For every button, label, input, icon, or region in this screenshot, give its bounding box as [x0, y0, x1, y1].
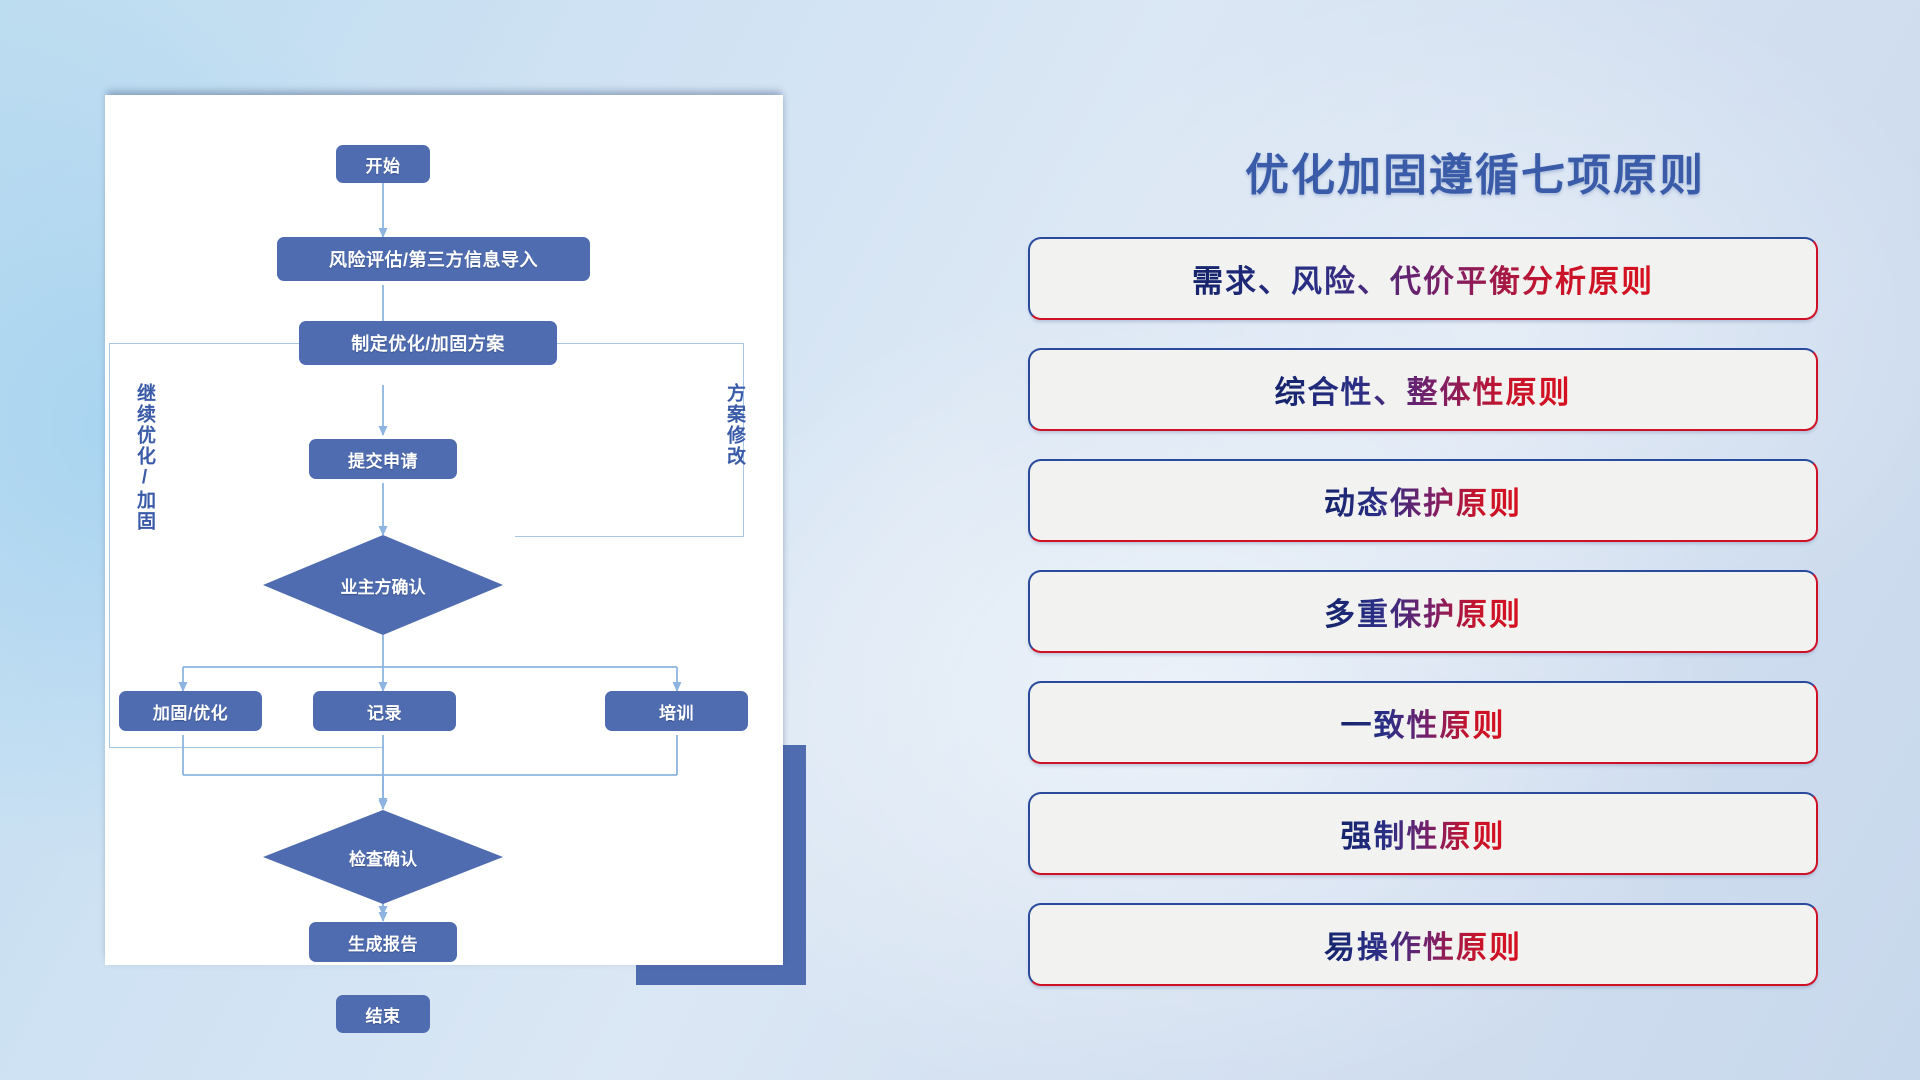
node-owner-confirm[interactable]: 业主方确认 [263, 535, 503, 635]
principle-item-5[interactable]: 一致性原则 [1028, 681, 1818, 764]
node-submit-application[interactable]: 提交申请 [309, 439, 457, 479]
node-submit-application-label: 提交申请 [348, 447, 418, 472]
principle-item-2-label: 综合性、整体性原则 [1275, 367, 1572, 412]
node-record-label: 记录 [367, 699, 402, 724]
principle-item-4-label: 多重保护原则 [1324, 589, 1522, 634]
node-record[interactable]: 记录 [313, 691, 456, 731]
slide-canvas: 开始 风险评估/第三方信息导入 制定优化/加固方案 提交申请 业主方确认 加固/… [0, 0, 1920, 1080]
node-end-label: 结束 [366, 1002, 401, 1027]
principle-item-1-label: 需求、风险、代价平衡分析原则 [1192, 256, 1654, 301]
principle-item-7-label: 易操作性原则 [1324, 922, 1522, 967]
node-generate-report-label: 生成报告 [348, 930, 418, 955]
principle-item-6-label: 强制性原则 [1341, 811, 1506, 856]
node-risk-assessment[interactable]: 风险评估/第三方信息导入 [277, 237, 590, 281]
node-reinforce-optimize-label: 加固/优化 [153, 699, 228, 724]
node-training[interactable]: 培训 [605, 691, 748, 731]
principle-item-5-label: 一致性原则 [1341, 700, 1506, 745]
principle-item-1[interactable]: 需求、风险、代价平衡分析原则 [1028, 237, 1818, 320]
edge-label-left-loop: 继续优化/加固 [135, 383, 154, 532]
flowchart-diagram: 开始 风险评估/第三方信息导入 制定优化/加固方案 提交申请 业主方确认 加固/… [105, 95, 783, 965]
node-start[interactable]: 开始 [336, 145, 430, 183]
edge-label-right-loop: 方案修改 [725, 383, 744, 467]
node-owner-confirm-label: 业主方确认 [263, 535, 503, 635]
node-end[interactable]: 结束 [336, 995, 430, 1033]
node-plan-label: 制定优化/加固方案 [351, 330, 505, 356]
principle-item-4[interactable]: 多重保护原则 [1028, 570, 1818, 653]
principle-item-3[interactable]: 动态保护原则 [1028, 459, 1818, 542]
node-generate-report[interactable]: 生成报告 [309, 922, 457, 962]
principle-item-6[interactable]: 强制性原则 [1028, 792, 1818, 875]
principle-item-2[interactable]: 综合性、整体性原则 [1028, 348, 1818, 431]
node-check-confirm-label: 检查确认 [263, 810, 503, 904]
node-training-label: 培训 [659, 699, 694, 724]
node-risk-assessment-label: 风险评估/第三方信息导入 [329, 246, 538, 272]
node-plan[interactable]: 制定优化/加固方案 [299, 321, 557, 365]
node-start-label: 开始 [366, 152, 401, 177]
node-check-confirm[interactable]: 检查确认 [263, 810, 503, 904]
principle-item-7[interactable]: 易操作性原则 [1028, 903, 1818, 986]
page-title: 优化加固遵循七项原则 [1155, 139, 1795, 203]
flowchart-card: 开始 风险评估/第三方信息导入 制定优化/加固方案 提交申请 业主方确认 加固/… [105, 95, 783, 965]
principle-item-3-label: 动态保护原则 [1324, 478, 1522, 523]
node-reinforce-optimize[interactable]: 加固/优化 [119, 691, 262, 731]
